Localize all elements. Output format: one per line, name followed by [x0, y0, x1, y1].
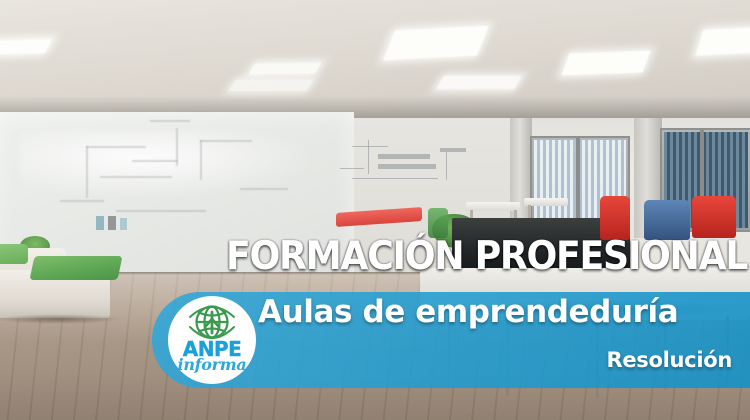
wall-diagram-mark: [340, 168, 364, 169]
wall-diagram-mark: [446, 152, 447, 180]
ceiling-light-panel: [249, 62, 322, 74]
banner-headline: FORMACIÓN PROFESIONAL: [226, 236, 747, 277]
wall-diagram-mark: [352, 146, 388, 147]
sofa-cushion: [0, 244, 28, 264]
ceiling-light-panel: [561, 51, 650, 76]
ceiling-light-panel: [229, 80, 314, 91]
whiteboard-sticky: [108, 216, 116, 230]
anpe-logo[interactable]: ANPE informa: [168, 296, 256, 384]
ceiling-light-panel: [695, 26, 750, 56]
whiteboard-mark: [132, 160, 178, 162]
sofa-shadow: [0, 314, 122, 324]
sofa-cushion: [29, 256, 122, 280]
wall-diagram-mark: [378, 154, 430, 159]
whiteboard-mark: [100, 176, 172, 178]
whiteboard-sticky: [96, 216, 104, 230]
whiteboard-mark: [200, 140, 252, 142]
whiteboard-mark: [116, 210, 206, 212]
white-table: [466, 202, 520, 211]
wall-diagram-mark: [368, 140, 369, 174]
whiteboard-mark: [176, 128, 178, 166]
promo-banner: FORMACIÓN PROFESIONAL Aulas de emprended…: [0, 0, 750, 420]
wall-diagram-mark: [378, 164, 436, 169]
banner-subheadline: Aulas de emprendeduría: [258, 294, 678, 330]
whiteboard-mark: [240, 188, 288, 190]
whiteboard-sticky: [120, 218, 127, 230]
ceiling-light-panel: [383, 26, 489, 61]
wall-diagram-mark: [352, 178, 438, 179]
wall-diagram-mark: [440, 148, 466, 152]
anpe-logo-tagline: informa: [171, 357, 253, 373]
red-chair: [692, 196, 736, 238]
window-mullion: [576, 138, 580, 230]
whiteboard-mark: [86, 146, 146, 148]
whiteboard-mark: [200, 140, 202, 180]
banner-kicker: Resolución: [606, 348, 732, 372]
whiteboard-mark: [150, 120, 190, 122]
ceiling-light-panel: [0, 39, 52, 55]
ceiling-light-panel: [436, 76, 522, 89]
whiteboard-mark: [86, 146, 88, 198]
whiteboard-mark: [60, 200, 104, 202]
